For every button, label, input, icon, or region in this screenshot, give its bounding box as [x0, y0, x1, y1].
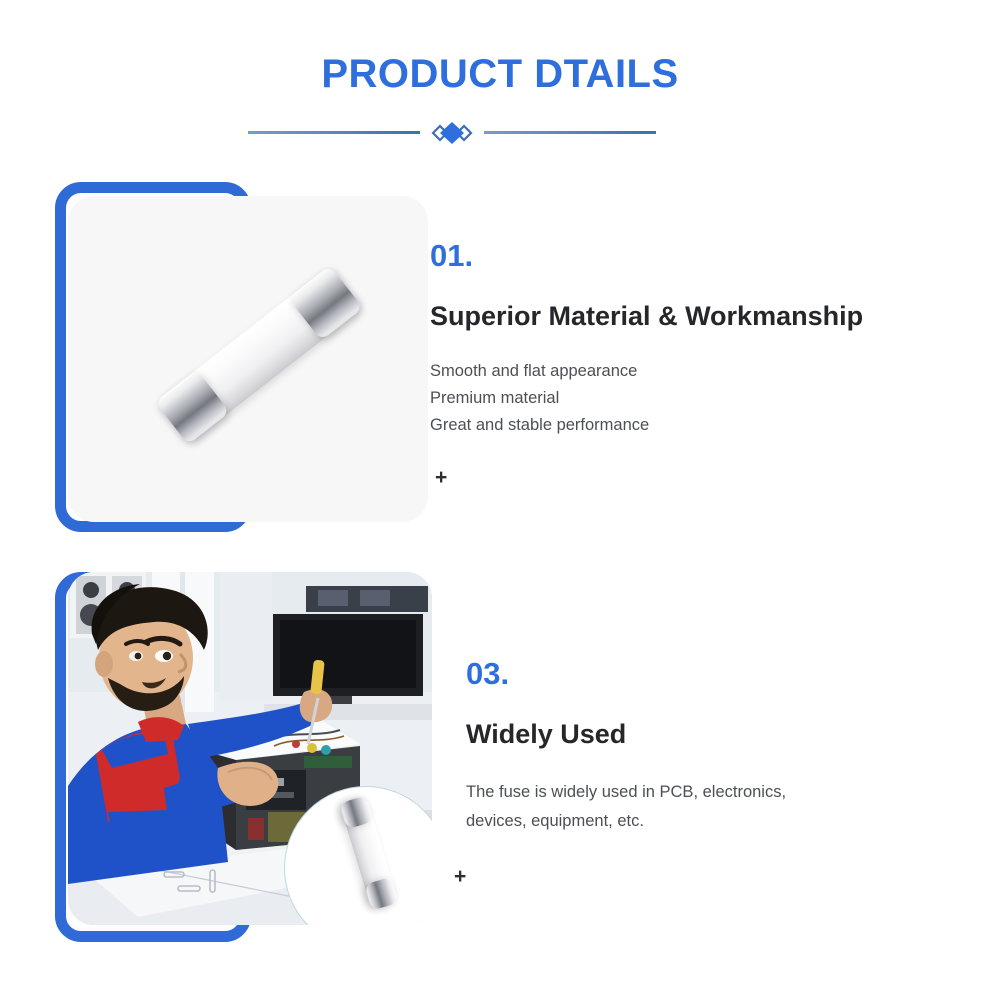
expand-button-03[interactable]: +: [454, 866, 966, 887]
section-body-03: The fuse is widely used in PCB, electron…: [466, 778, 966, 836]
ceramic-fuse-body-inset: [339, 795, 399, 910]
product-image-03[interactable]: [68, 572, 432, 925]
section-card-03: 03. Widely Used The fuse is widely used …: [0, 0, 1000, 1000]
body-line: The fuse is widely used in PCB, electron…: [466, 778, 966, 807]
section-text-03: 03. Widely Used The fuse is widely used …: [466, 658, 966, 887]
section-heading-03: Widely Used: [466, 719, 966, 750]
body-line: devices, equipment, etc.: [466, 807, 966, 836]
product-details-page: PRODUCT DTAILS 01. Superi: [0, 0, 1000, 1000]
section-number-03: 03.: [466, 658, 966, 689]
